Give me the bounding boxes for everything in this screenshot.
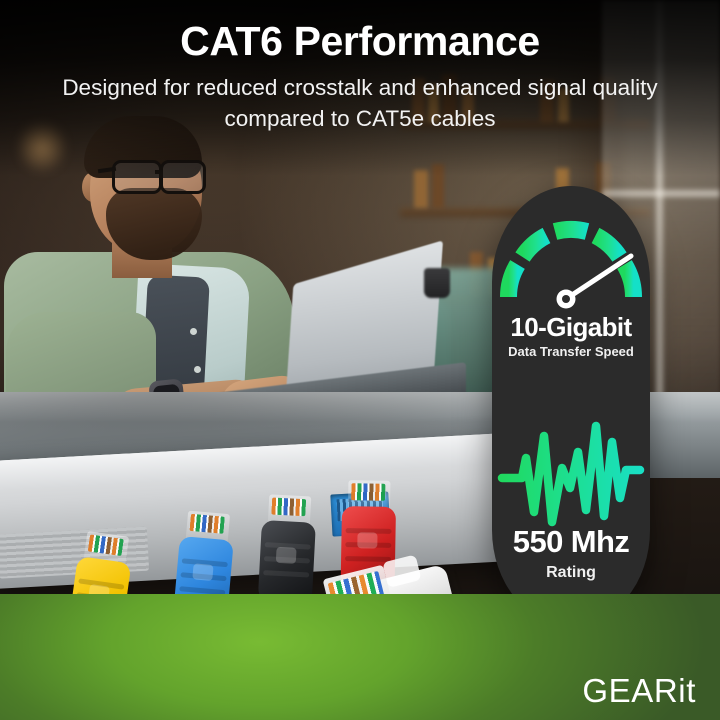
product-feature-image: CAT6 Performance Designed for reduced cr… [0,0,720,720]
brand-name-lower: it [678,672,696,709]
brand-logo: GEARit [582,672,696,710]
badge-title-rating: 550 Mhz [492,524,650,560]
badge-title-speed: 10-Gigabit [492,312,650,343]
brand-name-upper: GEAR [582,672,678,709]
page-title: CAT6 Performance [0,18,720,65]
page-subtitle: Designed for reduced crosstalk and enhan… [60,72,660,134]
signal-waveform-icon [492,412,650,532]
boot-clip [357,532,377,548]
boot-clip [192,563,213,581]
feature-badge-panel: 10-Gigabit Data Transfer Speed 550 Mhz R… [492,186,650,626]
speedometer-gauge-icon [492,202,650,322]
boot-clip [276,547,297,564]
beard [106,188,202,260]
badge-subtitle-rating: Rating [492,564,650,582]
badge-subtitle-speed: Data Transfer Speed [492,344,650,359]
coffee-cup [424,268,450,298]
